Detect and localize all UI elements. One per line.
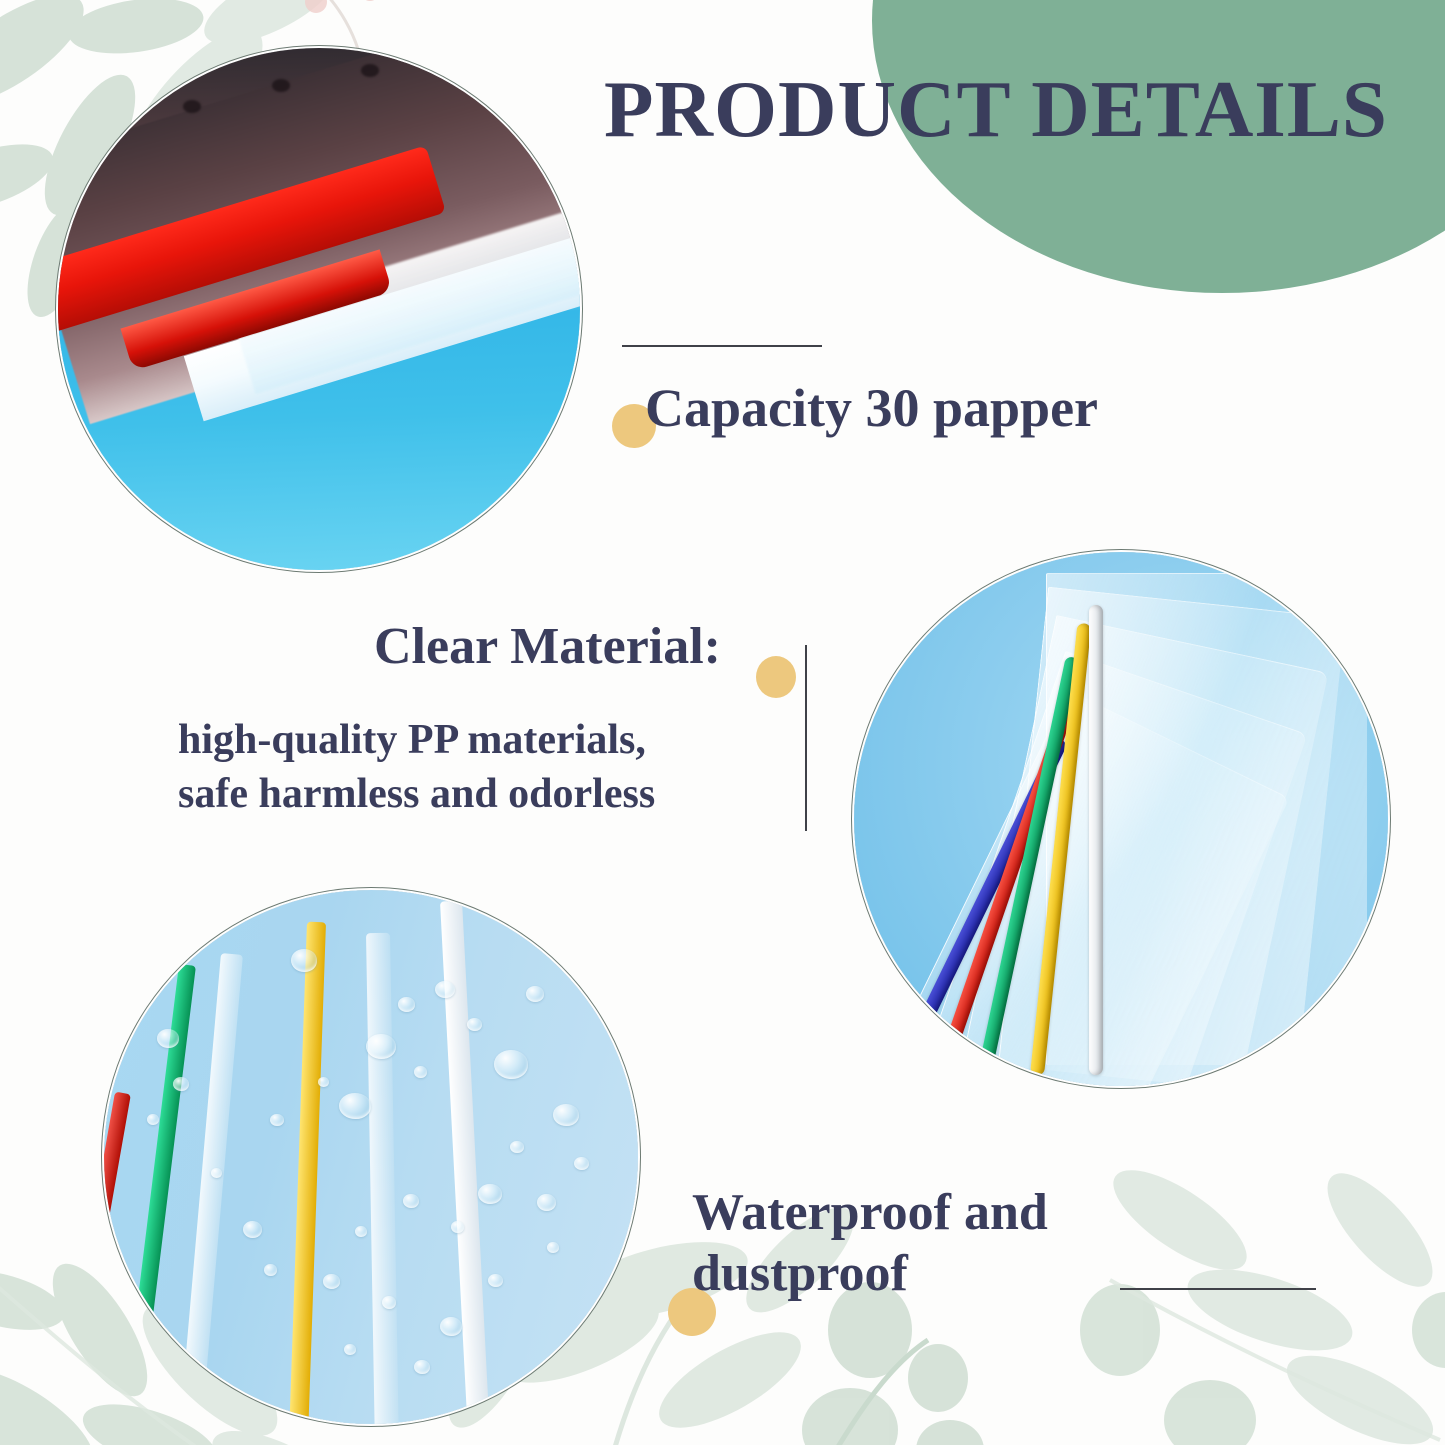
- divider-waterproof: [1120, 1288, 1316, 1290]
- accent-dot-clear-material-icon: [756, 656, 796, 698]
- divider-clear-material: [805, 645, 807, 831]
- product-photo-binder-closeup: [58, 48, 580, 570]
- divider-capacity: [622, 345, 822, 347]
- feature-heading-capacity: Capacity 30 papper: [645, 378, 1098, 438]
- feature-heading-line-2: dustproof: [692, 1243, 1048, 1304]
- feature-heading-line-1: Waterproof and: [692, 1182, 1048, 1243]
- infographic-canvas: PRODUCT DETAILS Capacity 30 papper Clear…: [0, 0, 1445, 1445]
- leaf-decor-bottom-right-icon: [1060, 1080, 1445, 1445]
- feature-body-line-2: safe harmless and odorless: [178, 768, 655, 822]
- feature-heading-waterproof: Waterproof and dustproof: [692, 1182, 1048, 1305]
- feature-heading-clear-material: Clear Material:: [374, 618, 721, 676]
- feature-body-clear-material: high-quality PP materials, safe harmless…: [178, 714, 655, 822]
- feature-body-line-1: high-quality PP materials,: [178, 714, 655, 768]
- page-title: PRODUCT DETAILS: [604, 63, 1388, 156]
- product-photo-fanned-covers: [854, 552, 1388, 1086]
- product-photo-water-droplets: [104, 890, 638, 1424]
